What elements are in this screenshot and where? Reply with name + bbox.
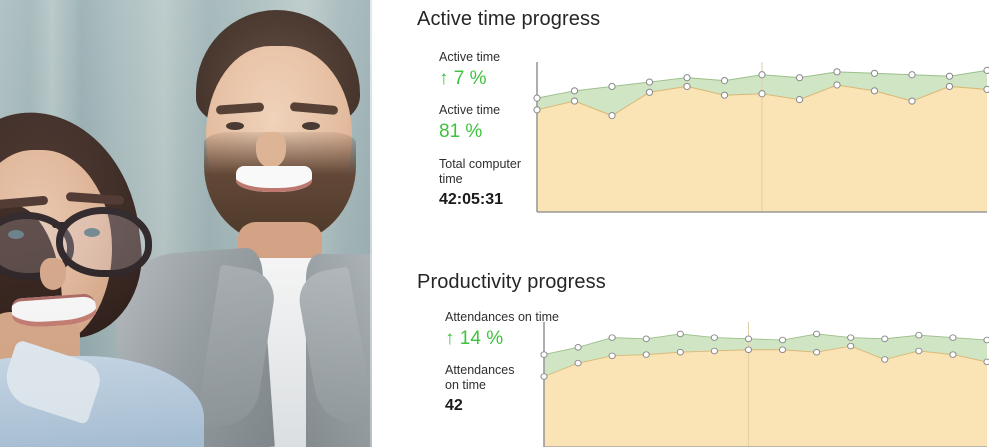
active-time-chart[interactable]: [529, 60, 989, 218]
active-time-progress-title: Active time progress: [417, 8, 600, 31]
stats-panel: Active time progress Active time ↑ 7 % A…: [372, 0, 1008, 447]
productivity-progress-title: Productivity progress: [417, 271, 606, 294]
photo-light-overlay: [0, 0, 372, 447]
productivity-chart[interactable]: [536, 320, 989, 447]
dashboard-screenshot: Active time progress Active time ↑ 7 % A…: [0, 0, 1008, 447]
office-people-photo: [0, 0, 372, 447]
